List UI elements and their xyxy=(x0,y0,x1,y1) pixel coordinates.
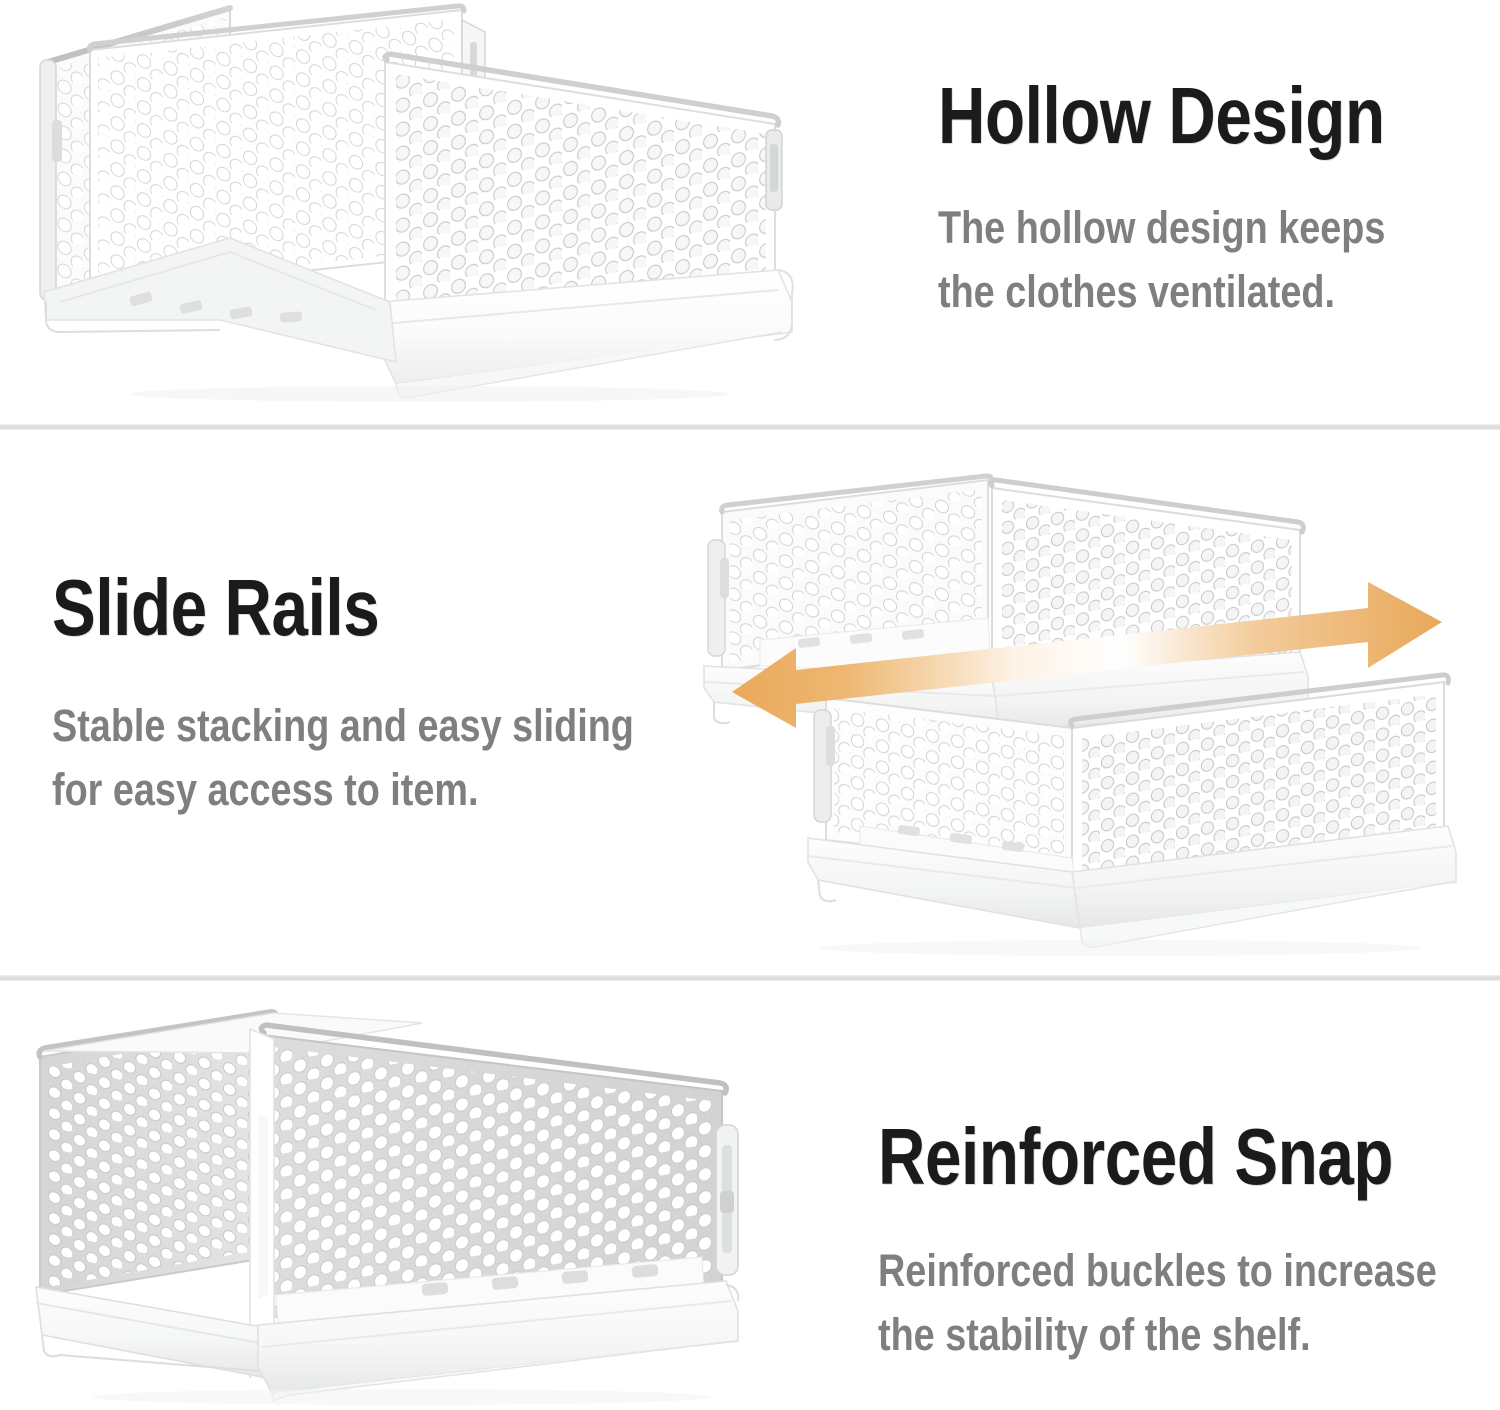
body-line: The hollow design keeps xyxy=(938,196,1392,260)
heading-hollow-design: Hollow Design xyxy=(938,78,1381,154)
body-line: the stability of the shelf. xyxy=(878,1303,1382,1367)
reinforced-snap-buckle xyxy=(716,1125,738,1275)
body-line: the clothes ventilated. xyxy=(938,260,1392,324)
product-image-hollow-design xyxy=(30,2,820,402)
body-slide-rails: Stable stacking and easy sliding for eas… xyxy=(52,694,640,822)
body-reinforced-snap: Reinforced buckles to increase the stabi… xyxy=(878,1239,1382,1367)
heading-slide-rails: Slide Rails xyxy=(52,570,626,646)
basket-left-panel xyxy=(39,1012,277,1295)
product-image-reinforced-snap xyxy=(22,995,822,1405)
body-line: for easy access to item. xyxy=(52,758,640,822)
section-slide-rails: Slide Rails Stable stacking and easy sli… xyxy=(0,430,1500,978)
text-block-hollow-design: Hollow Design The hollow design keeps th… xyxy=(938,78,1478,324)
body-hollow-design: The hollow design keeps the clothes vent… xyxy=(938,196,1392,324)
section-reinforced-snap: Reinforced Snap Reinforced buckles to in… xyxy=(0,981,1500,1410)
text-block-slide-rails: Slide Rails Stable stacking and easy sli… xyxy=(52,570,752,822)
body-line: Stable stacking and easy sliding xyxy=(52,694,640,758)
body-line: Reinforced buckles to increase xyxy=(878,1239,1382,1303)
heading-reinforced-snap: Reinforced Snap xyxy=(878,1119,1370,1195)
text-block-reinforced-snap: Reinforced Snap Reinforced buckles to in… xyxy=(878,1119,1478,1367)
product-image-slide-rails xyxy=(700,470,1490,970)
section-hollow-design: Hollow Design The hollow design keeps th… xyxy=(0,0,1500,427)
